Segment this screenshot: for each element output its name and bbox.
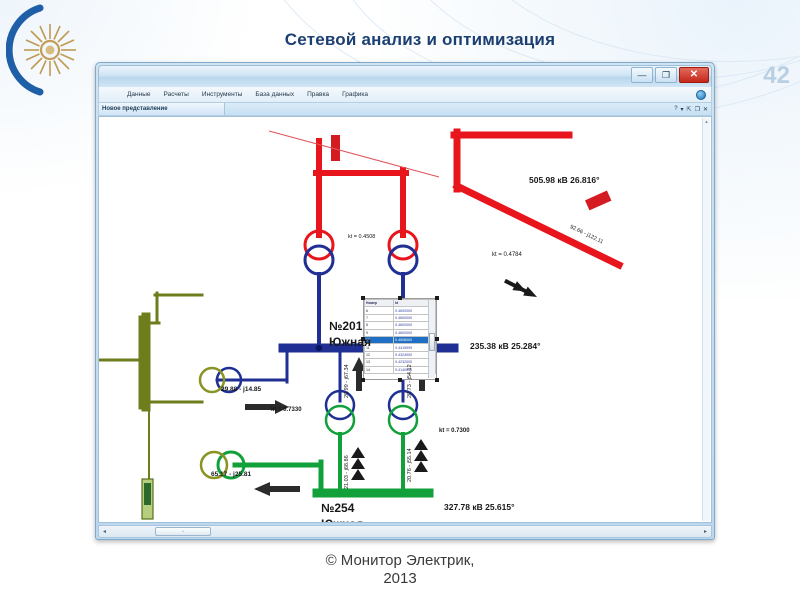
selection-handle-tm[interactable] (398, 296, 402, 300)
kt-table-body: 60.4692000 70.4600000 80.4600000 90.4600… (365, 307, 436, 374)
table-row: 60.4692000 (365, 307, 436, 314)
company-logo (6, 4, 90, 96)
window-controls: — ❐ ✕ (631, 67, 709, 83)
label-kt-transformer-2: kt = 0.7300 (439, 428, 470, 434)
maximize-button[interactable]: ❐ (655, 67, 677, 83)
close-button[interactable]: ✕ (679, 67, 709, 83)
label-node-201-id: №201 (329, 320, 362, 332)
table-row: 140.4140000 (365, 366, 436, 373)
hscroll-thumb[interactable]: ▫ (155, 527, 211, 536)
canvas-vertical-scrollbar[interactable]: ▴ (702, 118, 710, 521)
page-number: 42 (763, 62, 790, 90)
menu-item-raschety[interactable]: Расчеты (163, 91, 188, 98)
window-titlebar[interactable]: — ❐ ✕ (98, 65, 712, 87)
help-icon[interactable] (696, 90, 706, 100)
arrow-330-left (254, 482, 300, 496)
label-kt-500-branch: kt = 0.4784 (492, 252, 522, 258)
table-row: 90.4600000 (365, 329, 436, 336)
table-row: 110.4415999 (365, 344, 436, 351)
selection-handle-bm[interactable] (398, 378, 402, 382)
tab-help-icon[interactable]: ? (674, 106, 677, 112)
label-flow-220-branch-2: 20.73 - j54.12 (408, 364, 414, 398)
footer-copyright-line2: 2013 (0, 570, 800, 587)
label-flow-330-branch-1: 21.03 - j68.86 (345, 455, 351, 489)
label-flow-220-branch-1: 20.99 - j67.34 (345, 364, 351, 398)
selection-handle-bl[interactable] (361, 378, 365, 382)
label-node-201-name: Южная (329, 336, 371, 348)
cell-nomer: 12 (365, 351, 394, 358)
label-flow-330-branch-2: 20.76 - j55.14 (408, 448, 414, 482)
page-title: Сетевой анализ и оптимизация (120, 30, 720, 50)
table-row: 120.4324000 (365, 351, 436, 358)
label-node-254-id: №254 (321, 502, 354, 514)
menu-item-grafika[interactable]: Графика (342, 91, 368, 98)
object-marker-green-inner (144, 483, 151, 505)
menu-item-instrumenty[interactable]: Инструменты (202, 91, 243, 98)
network-500kv (316, 132, 619, 265)
cell-nomer: 14 (365, 366, 394, 373)
menu-bar: Данные Расчеты Инструменты База данных П… (98, 87, 712, 103)
grid-scroll-thumb[interactable] (429, 333, 435, 352)
label-flow-220-left: 29.88 - j14.85 (221, 387, 261, 394)
label-node-254-name: Южная (321, 518, 363, 523)
footer-copyright-line1: © Монитор Электрик, (0, 552, 800, 569)
table-row: 130.4232000 (365, 359, 436, 366)
selection-handle-mr[interactable] (435, 337, 439, 341)
arrow-500-line (503, 276, 540, 301)
scroll-left-icon[interactable]: ◂ (99, 528, 110, 535)
scroll-right-icon[interactable]: ▸ (700, 528, 711, 535)
cell-nomer: 6 (365, 307, 394, 314)
scroll-up-icon[interactable]: ▴ (703, 118, 710, 126)
table-row-selected: 100.4508000 (365, 336, 436, 343)
network-330kv (235, 434, 429, 493)
menu-item-baza-dannyh[interactable]: База данных (255, 91, 294, 98)
tab-window-controls: ? ▾ ⇱ ❐ ✕ (674, 103, 708, 115)
kt-grid-widget[interactable]: Номер kt 60.4692000 70.4600000 80.460000… (363, 298, 437, 380)
label-flow-330-left: 65.17 - j25.81 (211, 472, 251, 479)
tab-close-icon[interactable]: ✕ (703, 106, 708, 113)
selection-handle-tl[interactable] (361, 296, 365, 300)
object-marker-red-2 (585, 191, 611, 211)
minimize-button[interactable]: — (631, 67, 653, 83)
label-kt-transformer-1: kt = 0.7330 (271, 407, 302, 413)
cell-nomer: 7 (365, 314, 394, 321)
table-header-row: Номер kt (365, 300, 436, 307)
cell-nomer: 13 (365, 359, 394, 366)
diagram-canvas[interactable]: Номер kt 60.4692000 70.4600000 80.460000… (98, 116, 712, 523)
label-voltage-220: 235.38 кВ 25.284° (470, 342, 541, 351)
cell-nomer: 8 (365, 322, 394, 329)
selection-handle-br[interactable] (435, 378, 439, 382)
label-kt-top-table: kt = 0.4508 (348, 235, 375, 241)
tab-restore-icon[interactable]: ❐ (695, 106, 700, 113)
label-voltage-500: 505.98 кВ 26.816° (529, 176, 600, 185)
chevron-down-icon[interactable]: ▾ (681, 106, 684, 113)
table-row: 70.4600000 (365, 314, 436, 321)
menu-item-dannye[interactable]: Данные (127, 91, 150, 98)
kt-table[interactable]: Номер kt 60.4692000 70.4600000 80.460000… (364, 299, 436, 374)
grid-vertical-scrollbar[interactable] (428, 300, 435, 378)
tab-strip: Новое представление ? ▾ ⇱ ❐ ✕ (98, 103, 712, 116)
selection-handle-tr[interactable] (435, 296, 439, 300)
arrow-330-branch-2 (414, 439, 428, 472)
tab-novoe-predstavlenie[interactable]: Новое представление (99, 103, 225, 115)
bus-node-dot-1 (316, 345, 322, 351)
application-window: — ❐ ✕ Данные Расчеты Инструменты База да… (95, 62, 715, 540)
canvas-horizontal-scrollbar[interactable]: ◂ ▫ ▸ (98, 525, 712, 538)
column-header-nomer: Номер (365, 300, 394, 307)
label-voltage-330: 327.78 кВ 25.615° (444, 503, 515, 512)
arrow-330-branch-1 (351, 447, 365, 480)
menu-item-pravka[interactable]: Правка (307, 91, 329, 98)
pin-icon[interactable]: ⇱ (687, 106, 692, 113)
table-row: 80.4600000 (365, 322, 436, 329)
